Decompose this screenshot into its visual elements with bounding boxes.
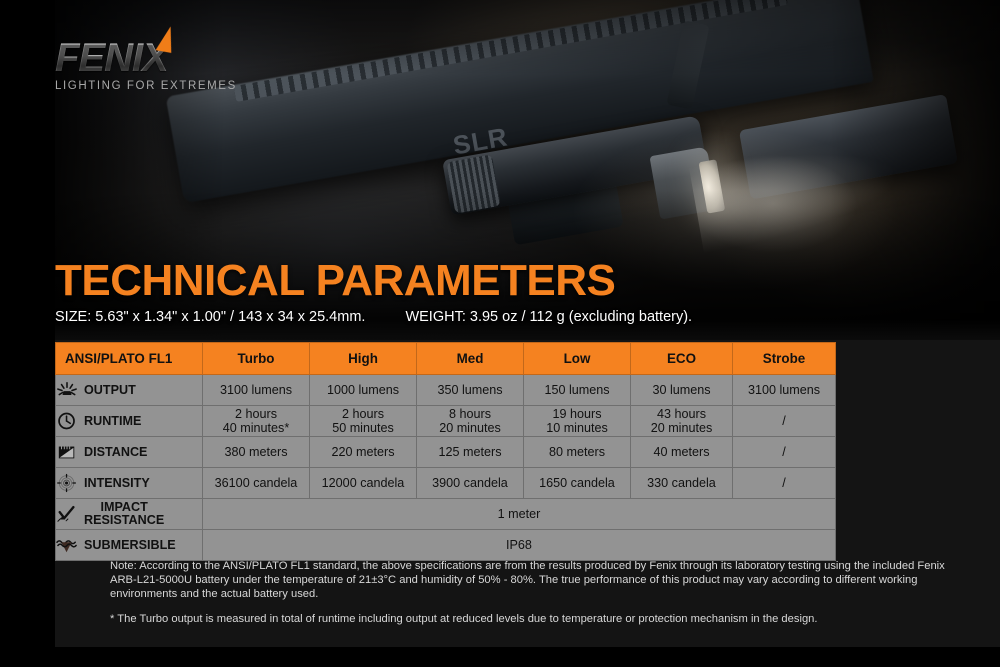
- technical-parameters-table: ANSI/PLATO FL1 Turbo High Med Low ECO St…: [55, 342, 836, 561]
- table-row-output: OUTPUT 3100 lumens 1000 lumens 350 lumen…: [56, 375, 836, 406]
- row-label-intensity-text: INTENSITY: [84, 476, 150, 490]
- beam-distance-icon: [56, 442, 78, 462]
- fenix-logo: FENIX LIGHTING FOR EXTREMES: [55, 38, 245, 92]
- row-label-distance-text: DISTANCE: [84, 445, 147, 459]
- cell-output-low: 150 lumens: [524, 375, 631, 406]
- cell-intensity-med: 3900 candela: [417, 468, 524, 499]
- cell-runtime-med-text: 8 hours20 minutes: [417, 407, 523, 436]
- row-label-impact-resistance: IMPACTRESISTANCE: [56, 499, 203, 530]
- cell-runtime-high: 2 hours50 minutes: [310, 406, 417, 437]
- cell-runtime-low: 19 hours10 minutes: [524, 406, 631, 437]
- row-label-output-text: OUTPUT: [84, 383, 136, 397]
- cell-output-med: 350 lumens: [417, 375, 524, 406]
- page-title: TECHNICAL PARAMETERS: [55, 256, 615, 306]
- cell-distance-turbo: 380 meters: [203, 437, 310, 468]
- row-label-submersible-text: SUBMERSIBLE: [84, 538, 176, 552]
- col-header-med: Med: [417, 343, 524, 375]
- table-header-row: ANSI/PLATO FL1 Turbo High Med Low ECO St…: [56, 343, 836, 375]
- cell-intensity-eco: 330 candela: [631, 468, 733, 499]
- cell-runtime-turbo-text: 2 hours40 minutes*: [203, 407, 309, 436]
- cell-intensity-strobe: /: [733, 468, 836, 499]
- col-header-low: Low: [524, 343, 631, 375]
- col-header-turbo: Turbo: [203, 343, 310, 375]
- cell-distance-low: 80 meters: [524, 437, 631, 468]
- cell-distance-high: 220 meters: [310, 437, 417, 468]
- cell-output-turbo: 3100 lumens: [203, 375, 310, 406]
- note-main: Note: According to the ANSI/PLATO FL1 st…: [110, 560, 960, 602]
- product-spec-sheet: SLR Note: According to the ANSI/PLATO FL…: [0, 0, 1000, 667]
- col-header-high: High: [310, 343, 417, 375]
- row-label-submersible: SUBMERSIBLE: [56, 530, 203, 561]
- cell-impact-resistance-value: 1 meter: [203, 499, 836, 530]
- table-row-runtime: RUNTIME 2 hours40 minutes* 2 hours50 min…: [56, 406, 836, 437]
- cell-runtime-turbo: 2 hours40 minutes*: [203, 406, 310, 437]
- cell-runtime-eco: 43 hours20 minutes: [631, 406, 733, 437]
- cell-intensity-turbo: 36100 candela: [203, 468, 310, 499]
- cell-runtime-high-text: 2 hours50 minutes: [310, 407, 416, 436]
- cell-intensity-low: 1650 candela: [524, 468, 631, 499]
- cell-distance-med: 125 meters: [417, 437, 524, 468]
- cell-runtime-strobe: /: [733, 406, 836, 437]
- weight-text: WEIGHT: 3.95 oz / 112 g (excluding batte…: [405, 309, 692, 325]
- cell-intensity-high: 12000 candela: [310, 468, 417, 499]
- row-label-runtime-text: RUNTIME: [84, 414, 141, 428]
- technical-parameters-table-wrap: ANSI/PLATO FL1 Turbo High Med Low ECO St…: [55, 342, 835, 561]
- cell-runtime-eco-text: 43 hours20 minutes: [631, 407, 732, 436]
- row-label-distance: DISTANCE: [56, 437, 203, 468]
- size-text: SIZE: 5.63" x 1.34" x 1.00" / 143 x 34 x…: [55, 309, 365, 325]
- logo-wordmark: FENIX: [55, 38, 245, 78]
- row-label-impact-resistance-text: IMPACTRESISTANCE: [84, 501, 164, 527]
- impact-drop-icon: [56, 504, 78, 524]
- table-row-distance: DISTANCE 380 meters 220 meters 125 meter…: [56, 437, 836, 468]
- size-weight-line: SIZE: 5.63" x 1.34" x 1.00" / 143 x 34 x…: [55, 309, 692, 325]
- logo-tagline: LIGHTING FOR EXTREMES: [55, 80, 245, 92]
- water-wave-icon: [56, 535, 78, 555]
- footnotes: Note: According to the ANSI/PLATO FL1 st…: [110, 560, 960, 627]
- table-row-intensity: INTENSITY 36100 candela 12000 candela 39…: [56, 468, 836, 499]
- cell-runtime-med: 8 hours20 minutes: [417, 406, 524, 437]
- col-header-standard: ANSI/PLATO FL1: [56, 343, 203, 375]
- table-row-submersible: SUBMERSIBLE IP68: [56, 530, 836, 561]
- col-header-eco: ECO: [631, 343, 733, 375]
- cell-distance-strobe: /: [733, 437, 836, 468]
- col-header-strobe: Strobe: [733, 343, 836, 375]
- row-label-output: OUTPUT: [56, 375, 203, 406]
- cell-distance-eco: 40 meters: [631, 437, 733, 468]
- row-label-runtime: RUNTIME: [56, 406, 203, 437]
- cell-output-eco: 30 lumens: [631, 375, 733, 406]
- cell-output-strobe: 3100 lumens: [733, 375, 836, 406]
- clock-icon: [56, 411, 78, 431]
- note-asterisk: * The Turbo output is measured in total …: [110, 613, 960, 627]
- sunburst-icon: [56, 380, 78, 400]
- cell-submersible-value: IP68: [203, 530, 836, 561]
- cell-output-high: 1000 lumens: [310, 375, 417, 406]
- target-intensity-icon: [56, 473, 78, 493]
- row-label-intensity: INTENSITY: [56, 468, 203, 499]
- table-row-impact-resistance: IMPACTRESISTANCE 1 meter: [56, 499, 836, 530]
- cell-runtime-low-text: 19 hours10 minutes: [524, 407, 630, 436]
